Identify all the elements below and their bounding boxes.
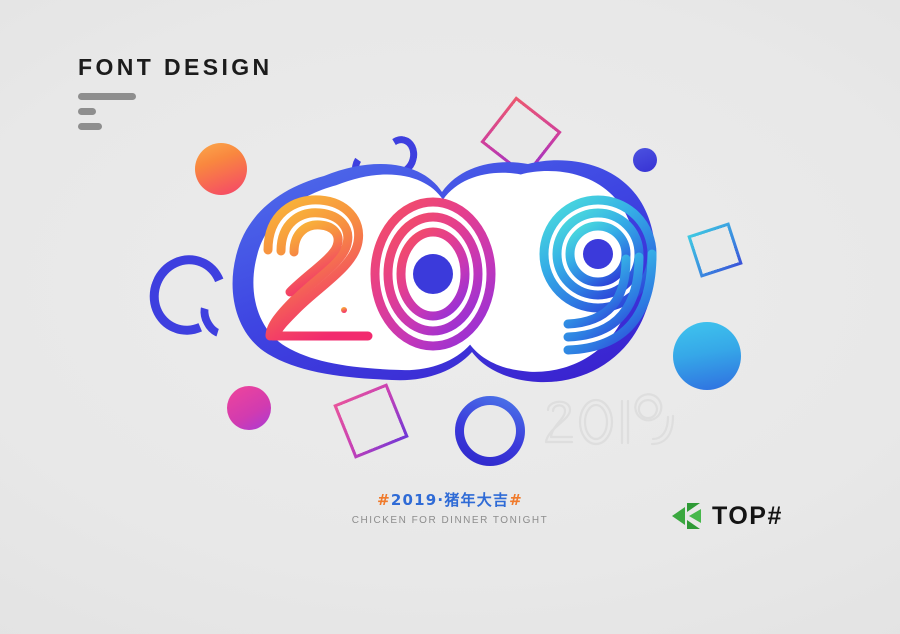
- header: FONT DESIGN: [78, 56, 398, 138]
- square-outline-cyan-icon: [687, 222, 742, 277]
- glyph-0-center-dot: [413, 254, 453, 294]
- square-outline-pink-bottom-icon: [333, 383, 409, 459]
- page-title: FONT DESIGN: [78, 56, 398, 79]
- circle-pink-gradient-icon: [227, 386, 271, 430]
- tagline-hash-right: #: [509, 491, 523, 509]
- header-rule-short-2: [78, 123, 102, 130]
- header-rule-group: [78, 93, 398, 130]
- artwork-2019-svg: [228, 158, 676, 390]
- poster-canvas: FONT DESIGN: [0, 0, 900, 634]
- artwork-2019: [228, 158, 676, 390]
- ring-blue-icon: [455, 396, 525, 466]
- glyph-9-center-dot: [583, 239, 613, 269]
- brand-lockup: TOP#: [672, 503, 783, 529]
- header-rule-short-1: [78, 108, 96, 115]
- circle-cyan-gradient-icon: [673, 322, 741, 390]
- glyph-1: [498, 208, 524, 342]
- tagline-chinese-text: 2019·猪年大吉: [391, 491, 509, 509]
- brand-triangles-icon: [672, 503, 702, 529]
- ghost-2019-watermark: [540, 392, 680, 454]
- brand-name: TOP#: [712, 504, 783, 529]
- tagline-hash-left: #: [377, 491, 391, 509]
- glyph-2-accents: [341, 307, 347, 313]
- header-rule-long: [78, 93, 136, 100]
